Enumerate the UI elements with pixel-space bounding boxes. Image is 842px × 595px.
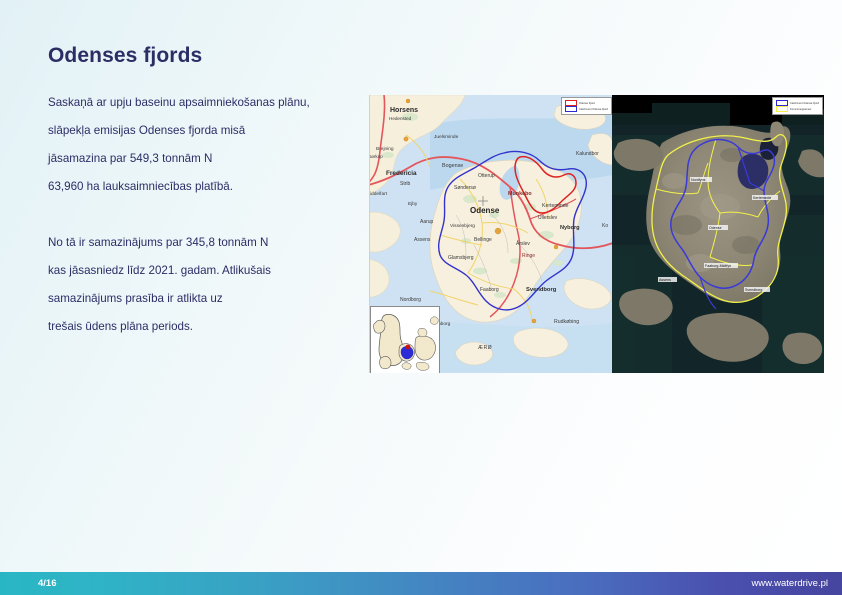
svg-text:Horsens: Horsens (390, 107, 418, 114)
odense-fjord-satellite-map[interactable]: Nordfyns Kerteminde Odense Assens Faabor… (612, 95, 824, 373)
denmark-inset-graphic (371, 307, 439, 373)
denmark-locator-inset (370, 306, 440, 373)
legend-label: Odense Fjord (579, 101, 595, 106)
svg-text:Hedensted: Hedensted (389, 116, 412, 121)
svg-text:Faaborg: Faaborg (480, 287, 499, 293)
slide: Odenses fjords Saskaņā ar upju baseinu a… (0, 0, 842, 595)
svg-text:Vissenbjerg: Vissenbjerg (450, 223, 475, 229)
svg-text:Ejby: Ejby (408, 201, 418, 207)
body-line: kas jāsasniedz līdz 2021. gadam. Atlikuš… (48, 257, 358, 285)
svg-text:Ullerslev: Ullerslev (538, 215, 558, 221)
svg-text:Glamsbjerg: Glamsbjerg (448, 255, 474, 261)
svg-text:Søndersø: Søndersø (454, 185, 476, 191)
legend-swatch-catchment (565, 106, 577, 112)
svg-text:Nordfyns: Nordfyns (691, 178, 706, 182)
page-title: Odenses fjords (48, 44, 202, 68)
svg-text:Odense: Odense (470, 206, 500, 215)
svg-text:Kerteminde: Kerteminde (542, 203, 569, 209)
body-paragraph-2: No tā ir samazinājums par 345,8 tonnām N… (48, 229, 358, 341)
svg-text:Bellinge: Bellinge (474, 237, 492, 243)
svg-text:Svendborg: Svendborg (745, 288, 762, 292)
svg-text:Nordborg: Nordborg (400, 297, 421, 303)
svg-text:Svendborg: Svendborg (526, 287, 557, 293)
satellite-map-graphic: Nordfyns Kerteminde Odense Assens Faabor… (612, 95, 824, 373)
page-number: 4/16 (38, 578, 57, 589)
legend-swatch-municipalities (776, 106, 788, 112)
svg-text:Munkebo: Munkebo (508, 191, 532, 197)
legend-label: Catchment Odense Fjord (579, 107, 608, 112)
footer-url[interactable]: www.waterdrive.pl (751, 578, 828, 589)
body-paragraph-1: Saskaņā ar upju baseinu apsaimniekošanas… (48, 89, 358, 201)
map-legend-right: Catchment Odense Fjord Kommunegrænser (772, 97, 823, 115)
svg-text:Odense: Odense (709, 226, 722, 230)
svg-text:Kalundbor: Kalundbor (576, 151, 599, 157)
body-line: jāsamazina par 549,3 tonnām N (48, 145, 358, 173)
body-line: slāpekļa emisijas Odenses fjorda misā (48, 117, 358, 145)
svg-text:Nyborg: Nyborg (560, 225, 580, 231)
odense-fjord-topographic-map[interactable]: Horsens Hedensted Juelsminde Brejning Bø… (369, 95, 613, 373)
svg-text:Assens: Assens (659, 278, 671, 282)
svg-text:Middelfart: Middelfart (370, 191, 388, 197)
legend-row-municipalities: Kommunegrænser (776, 106, 819, 112)
legend-row-catchment: Catchment Odense Fjord (565, 106, 608, 112)
svg-text:Ringe: Ringe (522, 253, 535, 259)
svg-text:Brejning: Brejning (376, 146, 394, 152)
svg-text:Fredericia: Fredericia (386, 170, 417, 177)
svg-text:Kerteminde: Kerteminde (753, 196, 771, 200)
legend-label: Catchment Odense Fjord (790, 101, 819, 106)
svg-text:Faaborg-Midtfyn: Faaborg-Midtfyn (705, 264, 731, 268)
body-line: trešais ūdens plāna periods. (48, 313, 358, 341)
svg-text:ÆRØ: ÆRØ (478, 345, 492, 351)
legend-label: Kommunegrænser (790, 107, 811, 112)
svg-text:Bogense: Bogense (442, 163, 463, 169)
body-line: 63,960 ha lauksaimniecības platībā. (48, 173, 358, 201)
svg-text:Rudkøbing: Rudkøbing (554, 319, 579, 325)
slide-footer: 4/16 www.waterdrive.pl (0, 572, 842, 595)
svg-text:Aarup: Aarup (420, 219, 434, 225)
map-legend-left: Odense Fjord Catchment Odense Fjord (561, 97, 612, 115)
svg-text:Årslev: Årslev (516, 240, 530, 247)
svg-text:Strib: Strib (400, 181, 411, 187)
svg-text:Otterup: Otterup (478, 173, 495, 179)
body-line: No tā ir samazinājums par 345,8 tonnām N (48, 229, 358, 257)
svg-text:Børkop: Børkop (370, 154, 383, 159)
svg-text:Assens: Assens (414, 237, 431, 243)
svg-text:Ko: Ko (602, 223, 608, 229)
body-line: Saskaņā ar upju baseinu apsaimniekošanas… (48, 89, 358, 117)
body-line: samazinājums prasība ir atlikta uz (48, 285, 358, 313)
svg-text:Juelsminde: Juelsminde (434, 134, 459, 140)
